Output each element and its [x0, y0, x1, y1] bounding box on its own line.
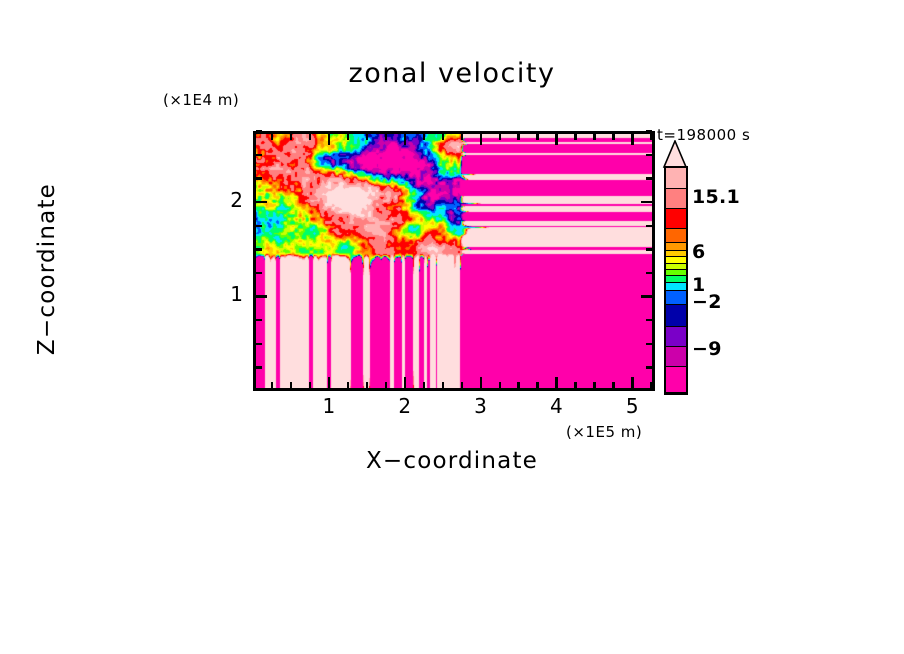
y-tick-right: [646, 130, 652, 132]
x-tick-top: [442, 134, 444, 140]
colorbar-band: [666, 229, 686, 243]
y-tick: [256, 130, 262, 132]
x-tick-top: [423, 134, 425, 140]
x-tick-top: [517, 134, 519, 140]
x-tick-top: [290, 134, 292, 140]
y-tick: [256, 343, 262, 345]
y-tick-right: [646, 319, 652, 321]
x-tick-top: [499, 134, 501, 140]
colorbar-band: [666, 264, 686, 270]
colorbar-band: [666, 347, 686, 367]
x-tick: [536, 382, 538, 388]
colorbar-band: [666, 168, 686, 189]
y-tick-right: [646, 177, 652, 179]
y-tick: [256, 319, 262, 321]
x-tick: [517, 382, 519, 388]
x-tick: [290, 382, 292, 388]
x-tick: [499, 382, 501, 388]
x-tick-top: [480, 134, 482, 145]
x-tick-top: [612, 134, 614, 140]
colorbar-band: [666, 291, 686, 305]
contour-plot-area: [253, 131, 655, 391]
y-tick: [256, 366, 262, 368]
y-tick: [256, 225, 262, 227]
x-tick-top: [536, 134, 538, 140]
x-tick: [366, 382, 368, 388]
y-tick-right: [646, 248, 652, 250]
x-tick-top: [328, 134, 330, 145]
x-tick: [385, 382, 387, 388]
x-tick: [650, 382, 652, 388]
colorbar-value-label: −9: [692, 338, 722, 360]
x-tick: [309, 382, 311, 388]
x-tick: [574, 382, 576, 388]
y-tick: [256, 154, 262, 156]
colorbar-band: [666, 209, 686, 229]
y-tick-right: [641, 295, 652, 297]
x-tick-top: [271, 134, 273, 140]
x-tick-label: 3: [466, 394, 496, 418]
colorbar-arrow-max: [662, 140, 688, 168]
x-tick: [480, 377, 482, 388]
colorbar-band: [666, 189, 686, 209]
x-tick-label: 4: [541, 394, 571, 418]
x-tick-top: [650, 134, 652, 140]
y-tick: [256, 177, 262, 179]
x-tick: [328, 377, 330, 388]
x-tick-label: 5: [617, 394, 647, 418]
y-tick: [256, 201, 267, 203]
y-tick-right: [646, 366, 652, 368]
x-tick-top: [574, 134, 576, 140]
y-tick-right: [646, 272, 652, 274]
y-tick-right: [646, 225, 652, 227]
colorbar-value-label: 6: [692, 241, 706, 263]
x-tick-top: [631, 134, 633, 145]
x-tick-label: 1: [314, 394, 344, 418]
colorbar-value-label: −2: [692, 291, 722, 313]
x-tick: [631, 377, 633, 388]
velocity-field-canvas: [256, 134, 652, 388]
x-tick-top: [593, 134, 595, 140]
colorbar-band: [666, 243, 686, 251]
colorbar-band: [666, 367, 686, 393]
x-axis-units-label: (×1E5 m): [566, 423, 642, 441]
x-tick: [442, 382, 444, 388]
y-tick-right: [641, 201, 652, 203]
colorbar: [664, 166, 688, 395]
colorbar-value-label: 15.1: [692, 186, 740, 208]
y-tick: [256, 248, 262, 250]
x-tick: [461, 382, 463, 388]
colorbar-band: [666, 283, 686, 291]
y-tick: [256, 272, 262, 274]
x-tick: [423, 382, 425, 388]
x-tick-top: [555, 134, 557, 145]
colorbar-band: [666, 305, 686, 327]
x-tick-top: [404, 134, 406, 145]
y-tick-right: [646, 343, 652, 345]
x-tick-label: 2: [390, 394, 420, 418]
colorbar-band: [666, 327, 686, 347]
x-tick-top: [347, 134, 349, 140]
y-tick-label: 1: [221, 282, 243, 306]
x-tick: [271, 382, 273, 388]
colorbar-band: [666, 276, 686, 283]
z-axis-units-label: (×1E4 m): [163, 91, 239, 109]
x-tick: [612, 382, 614, 388]
colorbar-band: [666, 257, 686, 264]
x-tick-top: [385, 134, 387, 140]
colorbar-band: [666, 251, 686, 257]
x-tick: [404, 377, 406, 388]
colorbar-band: [666, 270, 686, 276]
y-tick: [256, 295, 267, 297]
x-axis-label: X−coordinate: [0, 448, 904, 474]
chart-title: zonal velocity: [0, 58, 904, 89]
x-tick: [555, 377, 557, 388]
x-tick: [347, 382, 349, 388]
y-tick-label: 2: [221, 188, 243, 212]
x-tick-top: [366, 134, 368, 140]
x-tick-top: [461, 134, 463, 140]
x-tick-top: [309, 134, 311, 140]
x-tick: [593, 382, 595, 388]
y-tick-right: [646, 154, 652, 156]
y-axis-label: Z−coordinate: [34, 139, 60, 399]
